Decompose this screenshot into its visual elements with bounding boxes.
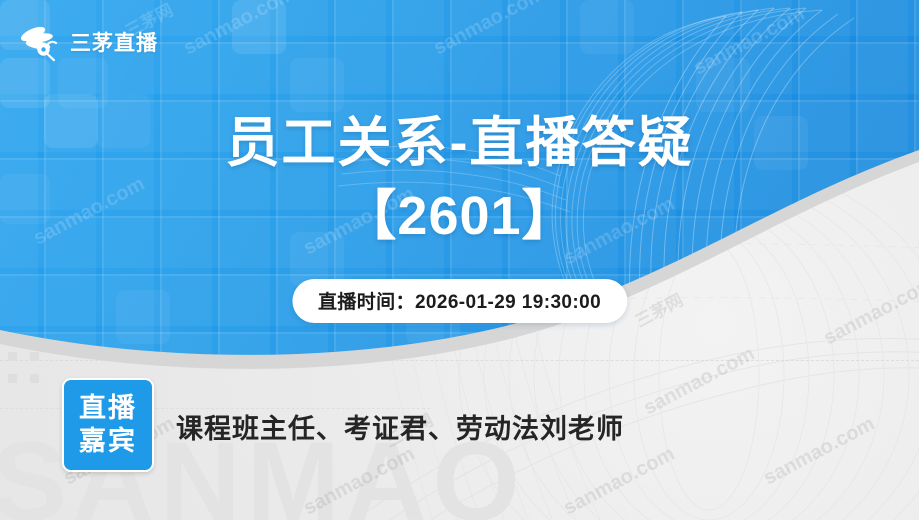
bee-icon: [18, 22, 62, 62]
guest-badge-line2: 嘉宾: [79, 425, 137, 458]
page-title-line1: 员工关系-直播答疑: [0, 112, 919, 174]
tile-highlight: [580, 0, 634, 54]
tile-highlight: [290, 58, 344, 112]
decorative-square: [8, 374, 17, 383]
tile-highlight: [116, 290, 170, 344]
tile-highlight: [0, 58, 50, 108]
brand-name: 三茅直播: [70, 27, 158, 57]
guest-badge: 直播 嘉宾: [62, 378, 154, 472]
live-poster: SANMAO sanmao.com sanmao.com sanmao.com …: [0, 0, 919, 520]
guest-names: 课程班主任、考证君、劳动法刘老师: [176, 407, 624, 446]
page-title-line2: 【2601】: [0, 185, 919, 247]
live-time-badge: 直播时间：2026-01-29 19:30:00: [292, 279, 627, 323]
guest-badge-line1: 直播: [79, 392, 137, 425]
decorative-square: [8, 352, 17, 361]
brand-logo[interactable]: 三茅直播: [18, 22, 158, 62]
decorative-square: [30, 374, 39, 383]
decorative-square: [30, 352, 39, 361]
